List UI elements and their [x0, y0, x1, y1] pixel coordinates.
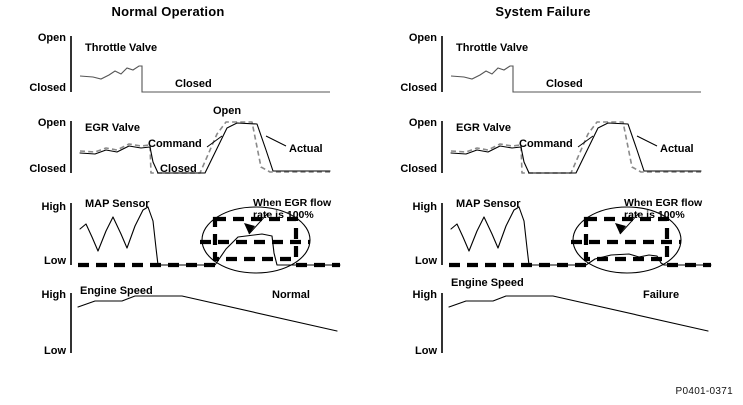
- axis-label-low: Low: [4, 255, 66, 267]
- axis-label-low: Closed: [4, 163, 66, 175]
- axis-label-high: Open: [4, 32, 66, 44]
- axis-label-high: High: [375, 201, 437, 213]
- inline-label-command: Command: [519, 138, 573, 150]
- inline-label-actual: Actual: [289, 143, 323, 155]
- series-label-egr-valve: EGR Valve: [456, 122, 511, 134]
- axis-label-low: Closed: [4, 82, 66, 94]
- chart-throttle-valve: Open Closed Throttle Valve Closed: [371, 30, 743, 105]
- axis-label-high: High: [4, 201, 66, 213]
- chart-engine-speed: High Low Engine Speed Normal: [0, 283, 372, 363]
- axis-label-high: High: [4, 289, 66, 301]
- axis-label-high: High: [375, 289, 437, 301]
- chart-engine-speed: High Low Engine Speed Failure: [371, 283, 743, 363]
- series-label-map-sensor: MAP Sensor: [456, 198, 521, 210]
- axis-label-low: Closed: [375, 82, 437, 94]
- chart-egr-valve: Open Closed EGR Valve Open Command Close…: [0, 105, 372, 185]
- inline-label-closed: Closed: [546, 78, 583, 90]
- inline-label-command: Command: [148, 138, 202, 150]
- panel-title: System Failure: [357, 4, 729, 19]
- verdict-label: Failure: [643, 289, 679, 301]
- axis-label-high: Open: [375, 32, 437, 44]
- series-label-throttle-valve: Throttle Valve: [456, 42, 528, 54]
- series-label-throttle-valve: Throttle Valve: [85, 42, 157, 54]
- inline-label-closed: Closed: [175, 78, 212, 90]
- axis-label-low: Low: [375, 255, 437, 267]
- axis-label-low: Low: [4, 345, 66, 357]
- callout-egr-flow-rate: When EGR flow rate is 100%: [624, 197, 702, 221]
- verdict-label: Normal: [272, 289, 310, 301]
- series-label-engine-speed: Engine Speed: [80, 285, 153, 297]
- series-label-engine-speed: Engine Speed: [451, 277, 524, 289]
- axis-label-low: Low: [375, 345, 437, 357]
- panel-normal-operation: Normal Operation Open Closed Throttle Va…: [0, 0, 372, 405]
- reference-code: P0401-0371: [676, 386, 734, 397]
- inline-label-actual: Actual: [660, 143, 694, 155]
- chart-egr-valve: Open Closed EGR Valve Command Actual: [371, 105, 743, 185]
- axis-label-low: Closed: [375, 163, 437, 175]
- panel-system-failure: System Failure Open Closed Throttle Valv…: [371, 0, 743, 405]
- axis-label-high: Open: [4, 117, 66, 129]
- series-label-map-sensor: MAP Sensor: [85, 198, 150, 210]
- chart-throttle-valve: Open Closed Throttle Valve Closed: [0, 30, 372, 105]
- callout-egr-flow-rate: When EGR flow rate is 100%: [253, 197, 331, 221]
- axis-label-high: Open: [375, 117, 437, 129]
- panel-title: Normal Operation: [0, 4, 354, 19]
- inline-label-open: Open: [213, 105, 241, 117]
- inline-label-closed: Closed: [160, 163, 197, 175]
- chart-map-sensor: High Low MAP Sensor When EGR flow rate i…: [0, 193, 372, 283]
- chart-map-sensor: High Low MAP Sensor When EGR flow rate i…: [371, 193, 743, 283]
- series-label-egr-valve: EGR Valve: [85, 122, 140, 134]
